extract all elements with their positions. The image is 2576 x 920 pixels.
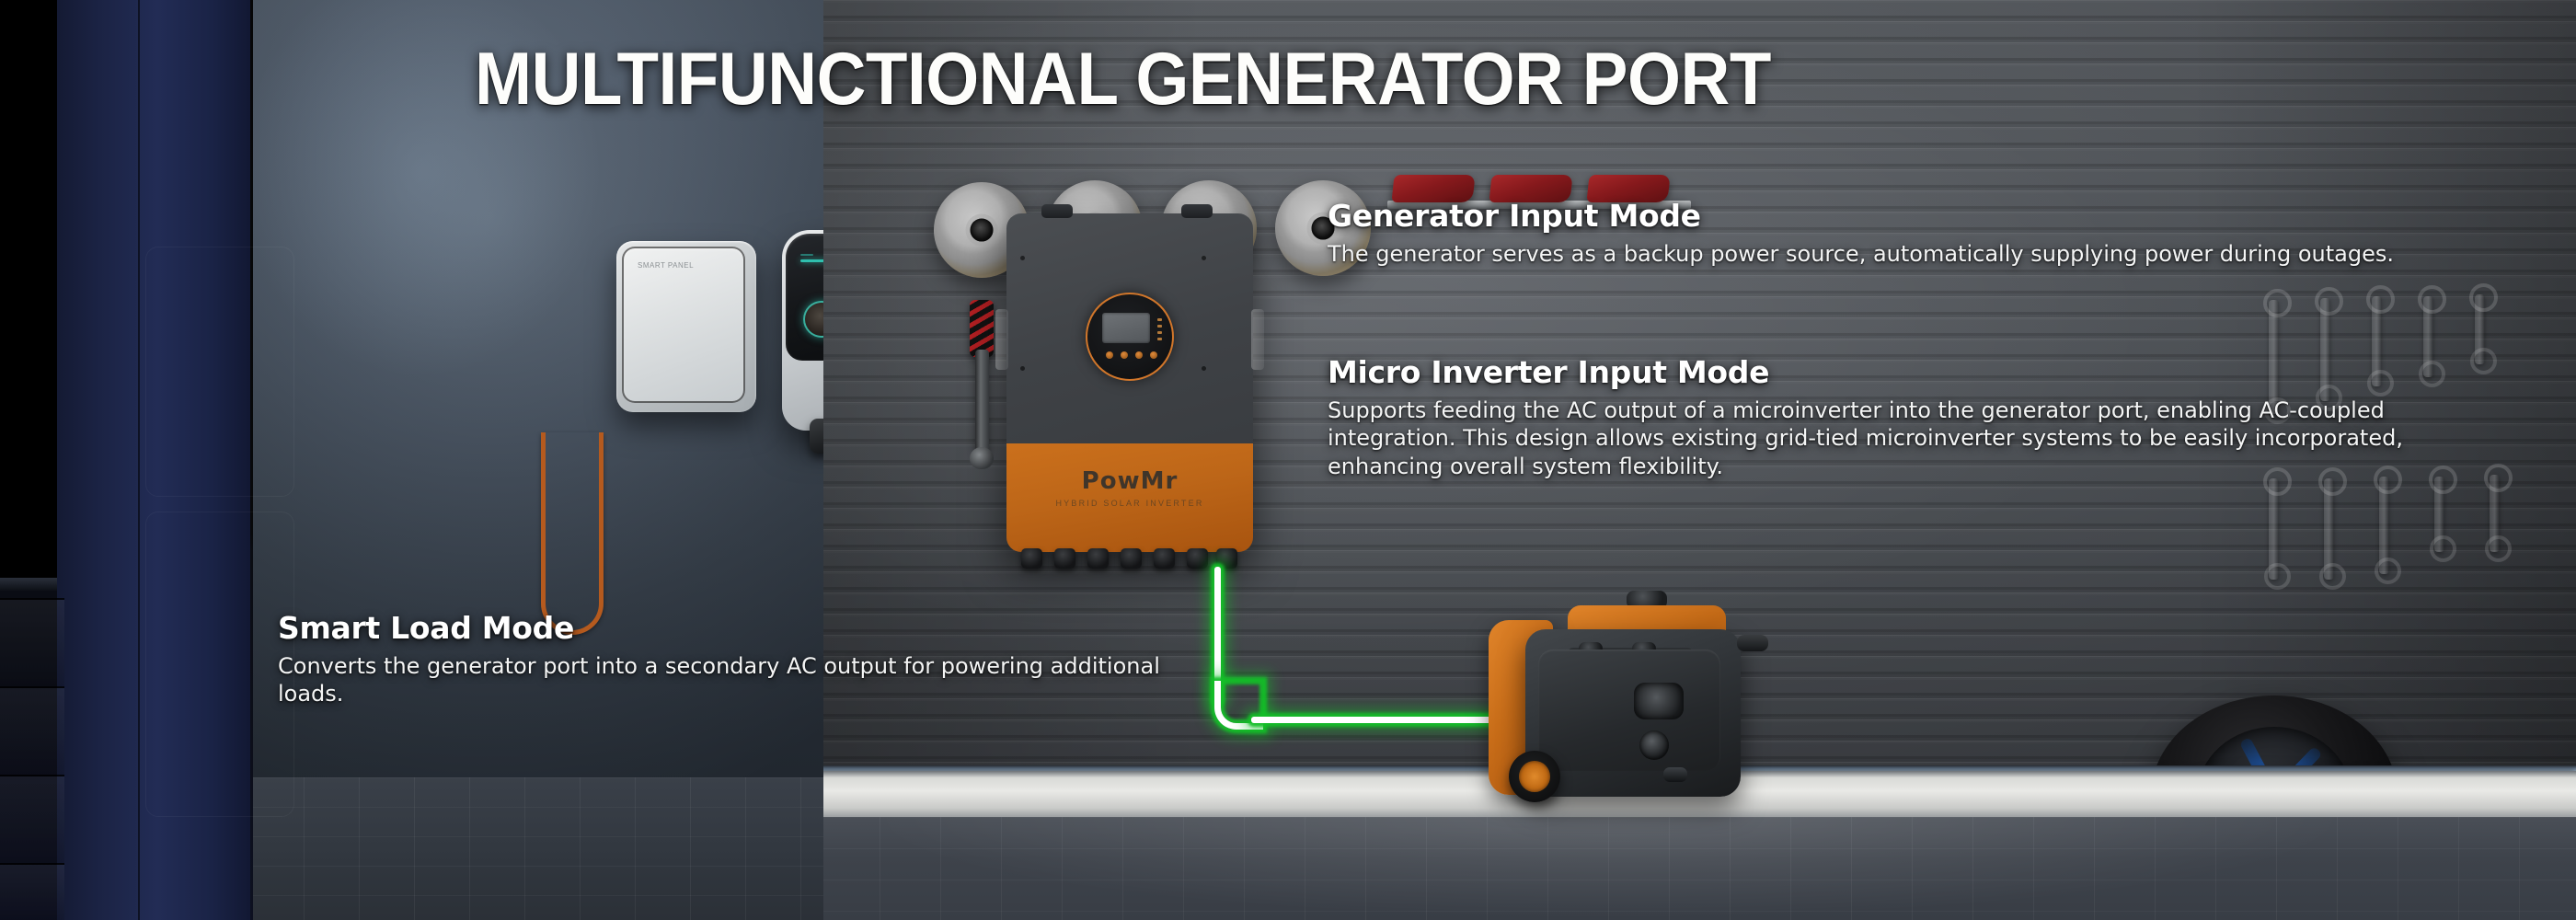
mode-heading-generator-input: Generator Input Mode [1328,198,2459,234]
coilover-foot-icon [970,447,994,469]
mode-body-smart-load: Converts the generator port into a secon… [278,652,1189,708]
generator-wheel [1509,751,1560,802]
mode-heading-smart-load: Smart Load Mode [278,610,1189,646]
cabinet-seam [138,0,140,920]
inverter-lower-shell: PowMr HYBRID SOLAR INVERTER [1006,443,1253,552]
mode-block-smart-load: Smart Load Mode Converts the generator p… [278,610,1189,708]
inverter-led [1157,338,1162,340]
charger-cable [541,432,604,635]
inverter-port [1021,548,1042,569]
inverter-button[interactable] [1135,351,1143,359]
inverter-led [1157,325,1162,328]
cabinet-drawer [0,598,64,688]
generator-cable-horizontal [1251,717,1518,723]
inverter-port [1087,548,1109,569]
inverter-subtitle: HYBRID SOLAR INVERTER [1006,499,1253,508]
charger-status-bar [800,259,823,262]
smart-panel-face: SMART PANEL [622,247,745,403]
inverter-screw [1202,256,1206,260]
generator-foot [1663,767,1687,782]
inverter-brand-logo: PowMr [1006,467,1253,495]
charger-plug-icon [810,419,823,454]
cabinet-drawer [0,686,64,776]
smart-panel-device: SMART PANEL [616,241,756,412]
inverter-mount-tab [1181,204,1213,218]
promo-banner: SMART PANEL [0,0,2576,920]
coilover-shock-icon [975,350,989,453]
inverter-led [1157,318,1162,321]
inverter-screw [1020,366,1025,371]
generator-side-panel [1538,650,1720,771]
inverter-side-fin [995,309,1008,370]
charger-status-dash [800,254,813,256]
inverter-port [1054,548,1075,569]
generator-muffler-icon [1737,635,1768,651]
garage-floor [819,817,2576,920]
ev-charger-device [782,230,823,431]
wrench-icon [2324,478,2334,580]
inverter-mount-tab [1041,204,1073,218]
inverter-generator-port [1216,548,1237,569]
charger-display [786,234,823,361]
hybrid-inverter-device: PowMr HYBRID SOLAR INVERTER [1006,213,1253,552]
cabinet-drawer [0,775,64,865]
charger-socket-icon [803,301,823,338]
portable-generator-device [1489,596,1755,817]
wrench-icon [2490,475,2500,552]
cabinet-door-panel [145,512,294,817]
inverter-side-fin [1251,309,1264,370]
wrench-icon [2269,478,2279,580]
inverter-led [1157,331,1162,334]
inverter-screw [1020,256,1025,260]
smart-panel-logo: SMART PANEL [638,261,694,270]
inverter-port [1154,548,1175,569]
mode-body-generator-input: The generator serves as a backup power s… [1328,240,2459,268]
inverter-port [1187,548,1208,569]
coilover-spring-icon [970,300,994,357]
blue-cabinet [57,0,250,920]
mode-heading-micro-inverter-input: Micro Inverter Input Mode [1328,354,2478,390]
inverter-button[interactable] [1150,351,1157,359]
wrench-icon [2434,477,2444,552]
page-title: MULTIFUNCTIONAL GENERATOR PORT [475,37,1771,122]
mode-block-generator-input: Generator Input Mode The generator serve… [1328,198,2459,268]
floor-reflection [819,817,2576,920]
wrench-icon [2379,477,2389,574]
generator-vent [1634,683,1684,719]
cabinet-door-panel [145,247,294,497]
mode-block-micro-inverter-input: Micro Inverter Input Mode Supports feedi… [1328,354,2478,480]
inverter-lcd-screen [1102,313,1150,343]
left-room-floor [248,777,823,920]
mode-body-micro-inverter-input: Supports feeding the AC output of a micr… [1328,397,2478,480]
inverter-button[interactable] [1106,351,1113,359]
dark-room-edge [0,0,253,920]
inverter-display-bezel [1086,293,1174,381]
inverter-button[interactable] [1121,351,1128,359]
cabinet-drawer [0,863,64,920]
inverter-port [1121,548,1142,569]
tv-screen [0,0,61,578]
generator-outlet-icon [1639,730,1669,760]
inverter-screw [1202,366,1206,371]
